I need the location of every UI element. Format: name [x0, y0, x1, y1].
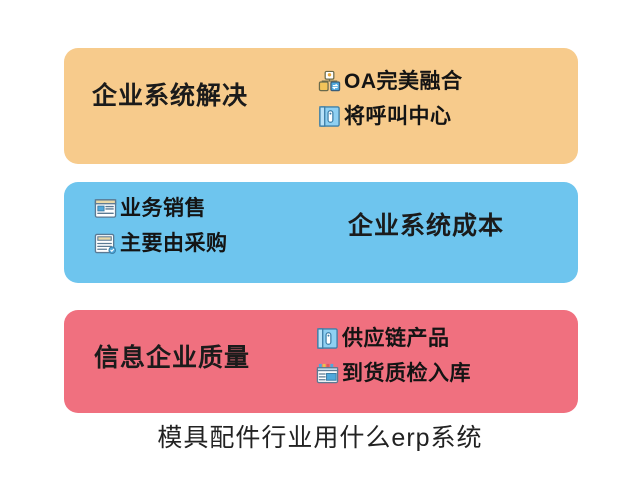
org-chart-icon: [318, 70, 341, 93]
list-item-label: 到货质检入库: [342, 363, 471, 384]
panel-item-list: OA完美融合 将呼叫中心: [318, 70, 463, 128]
panel-item-list: 供应链产品 到货质检入库: [316, 327, 471, 385]
infographic-canvas: 企业系统解决 OA完美融合: [0, 0, 640, 480]
list-item: 供应链产品: [316, 327, 471, 350]
panel-heading: 企业系统解决: [92, 84, 248, 109]
inbox-tray-icon: [316, 362, 339, 385]
caption-text: 模具配件行业用什么erp系统: [0, 426, 640, 451]
form-icon: [94, 232, 117, 255]
list-item: 到货质检入库: [316, 362, 471, 385]
list-item: 将呼叫中心: [318, 105, 463, 128]
list-item-label: 供应链产品: [342, 328, 450, 349]
list-item-label: 将呼叫中心: [344, 106, 452, 127]
panel-item-list: 业务销售 主要由采购: [94, 197, 228, 255]
book-icon: [316, 327, 339, 350]
panel-enterprise-system-cost: 业务销售 主要由采购 企业系统成本: [64, 182, 578, 283]
list-item-label: 主要由采购: [120, 233, 228, 254]
list-item: 主要由采购: [94, 232, 228, 255]
list-item-label: 业务销售: [120, 198, 206, 219]
panel-heading: 企业系统成本: [348, 214, 504, 239]
list-item: OA完美融合: [318, 70, 463, 93]
panel-enterprise-system-solution: 企业系统解决 OA完美融合: [64, 48, 578, 164]
list-item: 业务销售: [94, 197, 228, 220]
article-icon: [94, 197, 117, 220]
list-item-label: OA完美融合: [344, 71, 463, 92]
panel-heading: 信息企业质量: [94, 346, 250, 371]
book-icon: [318, 105, 341, 128]
panel-information-enterprise-quality: 信息企业质量 供应链产品: [64, 310, 578, 413]
